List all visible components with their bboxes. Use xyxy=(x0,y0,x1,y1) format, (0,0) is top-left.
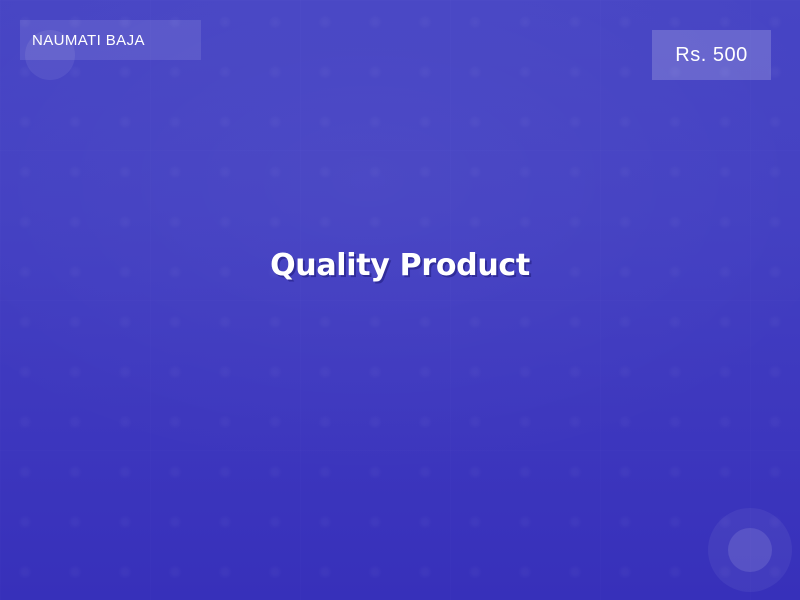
corner-accent-circle-outer xyxy=(708,508,792,592)
background-glow xyxy=(0,0,800,600)
price-badge-label: Rs. 500 xyxy=(675,44,747,67)
brand-badge[interactable]: NAUMATI BAJA xyxy=(20,20,201,60)
price-badge[interactable]: Rs. 500 xyxy=(652,30,771,80)
product-card: NAUMATI BAJA Rs. 500 Quality Product xyxy=(0,0,800,600)
corner-accent-circle-inner xyxy=(728,528,772,572)
page-title: Quality Product xyxy=(270,248,530,283)
background-pattern xyxy=(0,0,800,600)
brand-badge-label: NAUMATI BAJA xyxy=(32,32,145,49)
headline-container: Quality Product xyxy=(0,248,800,283)
